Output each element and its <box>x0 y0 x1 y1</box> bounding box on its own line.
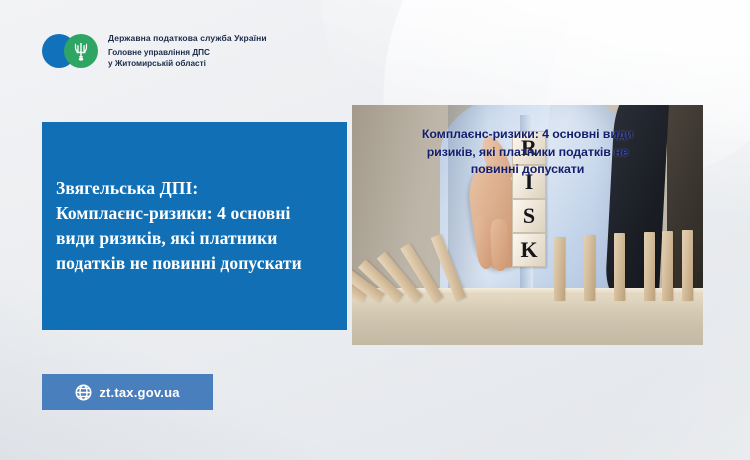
tryzub-icon <box>73 41 89 61</box>
photo-standing-domino <box>554 237 565 301</box>
photo-overlay-caption: Комплаєнс-ризики: 4 основні види ризиків… <box>360 126 695 179</box>
headline-panel: Звягельська ДПІ: Комплаєнс-ризики: 4 осн… <box>42 122 347 330</box>
photo-standing-domino <box>614 233 625 301</box>
logo-green-circle-icon <box>64 34 98 68</box>
photo-standing-domino <box>682 230 693 301</box>
photo-risk-block-s: S <box>512 199 546 233</box>
photo-hand-finger <box>490 219 509 272</box>
photo-risk-block-k: K <box>512 233 546 267</box>
website-url-badge[interactable]: zt.tax.gov.ua <box>42 374 213 410</box>
website-url-text: zt.tax.gov.ua <box>99 385 179 400</box>
organization-header: Державна податкова служба України Головн… <box>42 32 267 69</box>
article-photo: R I S K Комплаєнс-ризики: 4 основні види… <box>352 105 703 345</box>
photo-standing-domino <box>584 235 595 301</box>
photo-standing-domino <box>662 231 673 301</box>
org-title-line3: у Житомирській області <box>108 58 267 69</box>
globe-icon <box>75 384 92 401</box>
org-title-line2: Головне управління ДПС <box>108 47 267 58</box>
photo-standing-domino <box>644 232 655 301</box>
poster-canvas: Державна податкова служба України Головн… <box>0 0 750 460</box>
organization-name-block: Державна податкова служба України Головн… <box>108 32 267 69</box>
headline-text: Звягельська ДПІ: Комплаєнс-ризики: 4 осн… <box>42 176 316 276</box>
logo <box>42 34 98 68</box>
org-title-line1: Державна податкова служба України <box>108 32 267 44</box>
